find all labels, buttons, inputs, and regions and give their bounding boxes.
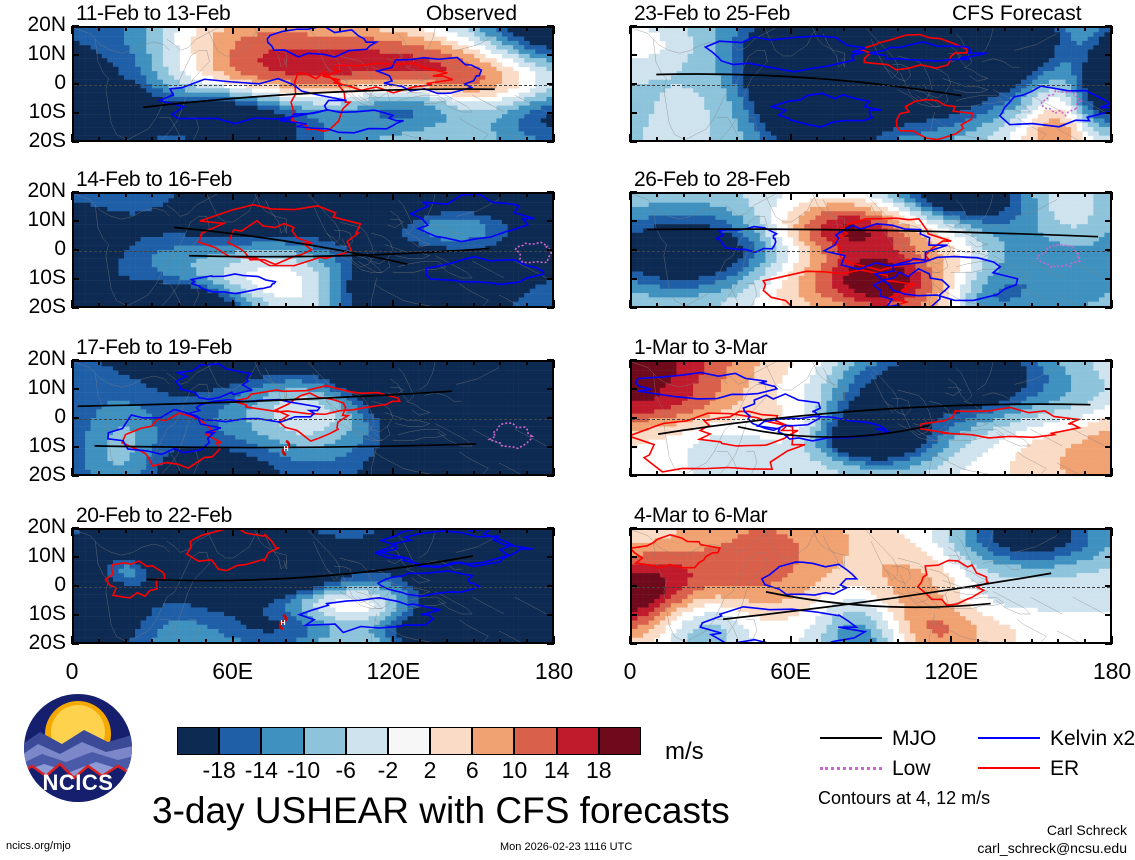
x-tick bbox=[258, 26, 260, 31]
x-tick bbox=[1111, 192, 1113, 200]
x-tick bbox=[1057, 639, 1059, 644]
x-tick bbox=[446, 471, 448, 476]
x-tick bbox=[526, 137, 528, 142]
panel-title: 1-Mar to 3-Mar bbox=[634, 336, 767, 360]
x-tick bbox=[977, 528, 979, 533]
x-tick bbox=[763, 26, 765, 31]
x-tick bbox=[897, 137, 899, 142]
x-tick bbox=[312, 303, 314, 308]
x-tick bbox=[763, 303, 765, 308]
x-tick bbox=[392, 300, 394, 308]
y-tick bbox=[630, 278, 637, 280]
x-tick bbox=[1084, 360, 1086, 365]
x-tick bbox=[736, 639, 738, 644]
x-tick bbox=[151, 471, 153, 476]
x-tick bbox=[870, 303, 872, 308]
x-tick bbox=[950, 300, 952, 308]
y-tick bbox=[1105, 278, 1112, 280]
x-tick bbox=[151, 192, 153, 197]
x-tick bbox=[977, 639, 979, 644]
x-tick bbox=[258, 360, 260, 365]
x-tick bbox=[1031, 303, 1033, 308]
colorbar-segment bbox=[430, 727, 472, 755]
panel-title: 11-Feb to 13-Feb bbox=[76, 2, 230, 26]
x-tick bbox=[977, 26, 979, 31]
x-tick bbox=[71, 360, 73, 368]
equator-line bbox=[632, 85, 1110, 86]
equator-line bbox=[632, 587, 1110, 588]
panel-title: 23-Feb to 25-Feb bbox=[634, 2, 790, 26]
colorbar-segment bbox=[304, 727, 346, 755]
equator-line bbox=[632, 251, 1110, 252]
y-tick bbox=[72, 446, 79, 448]
colorbar-unit-label: m/s bbox=[665, 738, 704, 766]
x-tick bbox=[709, 137, 711, 142]
colorbar-segment bbox=[261, 727, 303, 755]
y-tick bbox=[1105, 83, 1112, 85]
x-tick bbox=[366, 471, 368, 476]
x-tick bbox=[125, 192, 127, 197]
x-tick bbox=[392, 26, 394, 34]
x-tick bbox=[709, 528, 711, 533]
y-axis-label: 20N bbox=[2, 179, 66, 203]
x-tick bbox=[205, 303, 207, 308]
contour-note: Contours at 4, 12 m/s bbox=[818, 788, 990, 809]
x-tick bbox=[870, 471, 872, 476]
y-tick bbox=[1105, 54, 1112, 56]
y-tick bbox=[72, 25, 79, 27]
x-tick bbox=[392, 134, 394, 142]
x-tick bbox=[1084, 471, 1086, 476]
x-tick bbox=[258, 639, 260, 644]
y-tick bbox=[547, 585, 554, 587]
y-axis-label: 20S bbox=[2, 129, 66, 153]
x-tick bbox=[125, 528, 127, 533]
x-tick bbox=[1057, 528, 1059, 533]
x-tick bbox=[950, 192, 952, 200]
x-tick bbox=[312, 137, 314, 142]
y-tick bbox=[630, 417, 637, 419]
x-tick bbox=[446, 360, 448, 365]
x-tick bbox=[339, 137, 341, 142]
x-tick bbox=[924, 471, 926, 476]
legend-label-er: ER bbox=[1050, 757, 1079, 781]
x-tick bbox=[1031, 639, 1033, 644]
x-tick bbox=[98, 528, 100, 533]
x-tick bbox=[709, 26, 711, 31]
x-tick bbox=[339, 471, 341, 476]
x-tick bbox=[924, 528, 926, 533]
x-tick bbox=[656, 360, 658, 365]
x-tick bbox=[392, 360, 394, 368]
plot-area-fcst-1 bbox=[630, 26, 1112, 142]
x-tick bbox=[285, 471, 287, 476]
ncics-logo-graphic: NCICS bbox=[22, 692, 134, 804]
legend-label-low: Low bbox=[892, 757, 931, 781]
x-tick bbox=[205, 528, 207, 533]
x-tick bbox=[98, 137, 100, 142]
x-tick bbox=[709, 639, 711, 644]
x-tick bbox=[125, 303, 127, 308]
x-tick bbox=[312, 528, 314, 533]
x-tick bbox=[205, 137, 207, 142]
x-tick bbox=[553, 360, 555, 368]
x-tick bbox=[178, 26, 180, 31]
x-tick bbox=[1057, 137, 1059, 142]
x-tick bbox=[709, 471, 711, 476]
x-tick bbox=[553, 192, 555, 200]
y-tick bbox=[630, 643, 637, 645]
y-tick bbox=[72, 359, 79, 361]
x-tick bbox=[950, 26, 952, 34]
x-tick bbox=[629, 360, 631, 368]
colorbar-segment bbox=[557, 727, 599, 755]
x-tick bbox=[950, 636, 952, 644]
x-tick bbox=[125, 360, 127, 365]
y-tick bbox=[1105, 446, 1112, 448]
x-tick bbox=[312, 639, 314, 644]
y-tick bbox=[630, 141, 637, 143]
x-tick bbox=[473, 303, 475, 308]
tropical-cyclone-symbol: H bbox=[279, 440, 293, 456]
x-tick bbox=[98, 26, 100, 31]
y-tick bbox=[547, 614, 554, 616]
x-tick bbox=[683, 303, 685, 308]
y-axis-label: 10N bbox=[2, 42, 66, 66]
x-tick bbox=[125, 639, 127, 644]
x-tick bbox=[473, 471, 475, 476]
x-tick bbox=[1004, 137, 1006, 142]
x-tick bbox=[843, 360, 845, 365]
x-tick bbox=[366, 26, 368, 31]
x-tick bbox=[339, 192, 341, 197]
x-tick bbox=[1004, 26, 1006, 31]
x-tick bbox=[419, 192, 421, 197]
y-tick bbox=[72, 527, 79, 529]
x-tick bbox=[258, 192, 260, 197]
x-tick bbox=[709, 360, 711, 365]
x-tick bbox=[790, 300, 792, 308]
legend-line-mjo bbox=[820, 737, 882, 739]
x-tick bbox=[683, 528, 685, 533]
y-tick bbox=[1105, 614, 1112, 616]
x-tick bbox=[232, 360, 234, 368]
x-tick bbox=[1004, 360, 1006, 365]
x-tick bbox=[736, 26, 738, 31]
y-tick bbox=[547, 83, 554, 85]
y-tick bbox=[630, 25, 637, 27]
x-tick bbox=[499, 303, 501, 308]
x-tick bbox=[285, 26, 287, 31]
x-tick bbox=[366, 360, 368, 365]
author-name: Carl Schreck bbox=[1047, 822, 1127, 838]
y-axis-label: 20S bbox=[2, 631, 66, 655]
y-tick bbox=[547, 112, 554, 114]
x-tick bbox=[1057, 26, 1059, 31]
y-tick bbox=[630, 112, 637, 114]
shading-layer bbox=[74, 530, 552, 642]
x-tick bbox=[71, 300, 73, 308]
x-tick bbox=[843, 137, 845, 142]
plot-area-obs-1 bbox=[72, 26, 554, 142]
x-tick bbox=[446, 528, 448, 533]
y-tick bbox=[72, 417, 79, 419]
x-tick bbox=[178, 192, 180, 197]
x-tick bbox=[366, 639, 368, 644]
x-axis-label: 0 bbox=[32, 658, 112, 685]
x-tick bbox=[1111, 26, 1113, 34]
x-tick bbox=[790, 360, 792, 368]
x-tick bbox=[151, 26, 153, 31]
plot-area-obs-2 bbox=[72, 192, 554, 308]
y-tick bbox=[547, 278, 554, 280]
plot-area-fcst-2 bbox=[630, 192, 1112, 308]
x-tick bbox=[205, 471, 207, 476]
x-tick bbox=[553, 468, 555, 476]
x-tick bbox=[392, 528, 394, 536]
y-axis-label: 10N bbox=[2, 376, 66, 400]
x-tick bbox=[473, 528, 475, 533]
x-tick bbox=[98, 639, 100, 644]
y-tick bbox=[630, 83, 637, 85]
x-tick bbox=[736, 528, 738, 533]
y-tick bbox=[547, 220, 554, 222]
y-tick bbox=[72, 249, 79, 251]
x-tick bbox=[232, 636, 234, 644]
x-tick bbox=[1111, 360, 1113, 368]
x-tick bbox=[1057, 192, 1059, 197]
y-tick bbox=[547, 54, 554, 56]
x-tick bbox=[629, 134, 631, 142]
y-tick bbox=[1105, 249, 1112, 251]
x-tick bbox=[205, 360, 207, 365]
y-tick bbox=[630, 585, 637, 587]
author-email[interactable]: carl_schreck@ncsu.edu bbox=[977, 840, 1127, 856]
y-tick bbox=[630, 475, 637, 477]
x-tick bbox=[683, 471, 685, 476]
x-tick bbox=[98, 303, 100, 308]
x-tick bbox=[71, 636, 73, 644]
x-tick bbox=[1031, 528, 1033, 533]
x-tick bbox=[446, 192, 448, 197]
x-tick bbox=[1031, 471, 1033, 476]
x-tick bbox=[1031, 26, 1033, 31]
x-tick bbox=[763, 528, 765, 533]
x-tick bbox=[178, 471, 180, 476]
x-tick bbox=[419, 528, 421, 533]
x-tick bbox=[232, 468, 234, 476]
site-link[interactable]: ncics.org/mjo bbox=[6, 840, 71, 852]
x-tick bbox=[870, 192, 872, 197]
x-tick bbox=[709, 303, 711, 308]
x-tick bbox=[1084, 303, 1086, 308]
legend-line-low bbox=[820, 767, 882, 770]
x-tick bbox=[71, 468, 73, 476]
legend-label-mjo: MJO bbox=[892, 727, 936, 751]
x-tick bbox=[526, 26, 528, 31]
x-tick bbox=[1111, 636, 1113, 644]
panel-title: 20-Feb to 22-Feb bbox=[76, 504, 232, 528]
x-tick bbox=[178, 528, 180, 533]
x-tick bbox=[312, 471, 314, 476]
plot-area-obs-3: H bbox=[72, 360, 554, 476]
y-tick bbox=[547, 388, 554, 390]
y-tick bbox=[630, 307, 637, 309]
y-tick bbox=[1105, 585, 1112, 587]
x-tick bbox=[178, 639, 180, 644]
x-tick bbox=[526, 303, 528, 308]
x-tick bbox=[790, 192, 792, 200]
x-tick bbox=[897, 303, 899, 308]
equator-line bbox=[632, 419, 1110, 420]
x-tick bbox=[816, 528, 818, 533]
plot-area-obs-4: H bbox=[72, 528, 554, 644]
legend-label-kelvin-x2: Kelvin x2 bbox=[1050, 727, 1135, 751]
y-tick bbox=[72, 614, 79, 616]
panel-title: 26-Feb to 28-Feb bbox=[634, 168, 790, 192]
y-tick bbox=[72, 585, 79, 587]
x-tick bbox=[656, 528, 658, 533]
x-tick bbox=[656, 303, 658, 308]
x-tick bbox=[816, 26, 818, 31]
x-tick bbox=[151, 360, 153, 365]
y-axis-label: 20N bbox=[2, 347, 66, 371]
y-tick bbox=[72, 112, 79, 114]
x-tick bbox=[870, 639, 872, 644]
x-tick bbox=[843, 192, 845, 197]
x-tick bbox=[1057, 360, 1059, 365]
x-tick bbox=[312, 26, 314, 31]
x-tick bbox=[656, 26, 658, 31]
x-tick bbox=[98, 360, 100, 365]
x-tick bbox=[446, 137, 448, 142]
main-title: 3-day USHEAR with CFS forecasts bbox=[152, 790, 730, 832]
x-tick bbox=[977, 192, 979, 197]
x-tick bbox=[125, 471, 127, 476]
colorbar-segment bbox=[346, 727, 388, 755]
x-tick bbox=[366, 528, 368, 533]
x-tick bbox=[816, 360, 818, 365]
x-tick bbox=[843, 528, 845, 533]
y-tick bbox=[72, 278, 79, 280]
x-tick bbox=[526, 192, 528, 197]
x-tick bbox=[1084, 528, 1086, 533]
y-axis-label: 10N bbox=[2, 544, 66, 568]
x-tick bbox=[526, 360, 528, 365]
y-tick bbox=[72, 475, 79, 477]
x-tick bbox=[870, 360, 872, 365]
x-tick bbox=[763, 639, 765, 644]
x-tick bbox=[473, 26, 475, 31]
y-axis-label: 0 bbox=[2, 237, 66, 261]
x-tick bbox=[1004, 192, 1006, 197]
y-tick bbox=[630, 446, 637, 448]
x-tick bbox=[473, 360, 475, 365]
x-tick bbox=[843, 26, 845, 31]
y-tick bbox=[1105, 220, 1112, 222]
x-tick bbox=[125, 137, 127, 142]
x-tick bbox=[205, 192, 207, 197]
x-tick bbox=[924, 137, 926, 142]
timestamp: Mon 2026-02-23 1116 UTC bbox=[500, 841, 632, 853]
x-tick bbox=[526, 639, 528, 644]
x-tick bbox=[339, 528, 341, 533]
x-tick bbox=[285, 528, 287, 533]
shading-layer bbox=[632, 194, 1110, 306]
x-tick bbox=[897, 192, 899, 197]
x-tick bbox=[98, 192, 100, 197]
x-tick bbox=[736, 303, 738, 308]
x-tick bbox=[816, 303, 818, 308]
plot-area-fcst-3 bbox=[630, 360, 1112, 476]
x-tick bbox=[790, 636, 792, 644]
x-tick bbox=[419, 471, 421, 476]
x-tick bbox=[446, 639, 448, 644]
x-tick bbox=[977, 303, 979, 308]
colorbar-segment bbox=[599, 727, 641, 755]
x-tick bbox=[870, 528, 872, 533]
x-tick bbox=[526, 528, 528, 533]
x-tick bbox=[258, 137, 260, 142]
x-tick bbox=[419, 639, 421, 644]
x-tick bbox=[816, 192, 818, 197]
x-tick bbox=[1084, 192, 1086, 197]
x-tick bbox=[473, 192, 475, 197]
x-tick bbox=[1031, 360, 1033, 365]
y-axis-label: 20N bbox=[2, 13, 66, 37]
x-tick bbox=[709, 192, 711, 197]
x-axis-label: 180 bbox=[514, 658, 594, 685]
y-tick bbox=[630, 191, 637, 193]
y-tick bbox=[547, 417, 554, 419]
y-tick bbox=[630, 359, 637, 361]
x-axis-label: 60E bbox=[193, 658, 273, 685]
x-tick bbox=[125, 26, 127, 31]
x-tick bbox=[553, 134, 555, 142]
x-tick bbox=[790, 468, 792, 476]
column-header-right: CFS Forecast bbox=[952, 2, 1082, 26]
x-tick bbox=[151, 639, 153, 644]
y-tick bbox=[1105, 388, 1112, 390]
x-tick bbox=[1004, 639, 1006, 644]
x-tick bbox=[656, 471, 658, 476]
x-tick bbox=[285, 303, 287, 308]
x-tick bbox=[499, 137, 501, 142]
y-axis-label: 10N bbox=[2, 208, 66, 232]
y-axis-label: 20S bbox=[2, 463, 66, 487]
x-tick bbox=[98, 471, 100, 476]
x-tick bbox=[339, 639, 341, 644]
x-tick bbox=[285, 137, 287, 142]
y-axis-label: 10S bbox=[2, 266, 66, 290]
y-axis-label: 20N bbox=[2, 515, 66, 539]
x-tick bbox=[950, 134, 952, 142]
x-tick bbox=[499, 471, 501, 476]
x-tick bbox=[285, 360, 287, 365]
x-tick bbox=[419, 137, 421, 142]
x-tick bbox=[1031, 137, 1033, 142]
y-tick bbox=[72, 556, 79, 558]
x-tick bbox=[763, 137, 765, 142]
x-tick bbox=[897, 26, 899, 31]
y-axis-label: 10S bbox=[2, 602, 66, 626]
x-tick bbox=[339, 26, 341, 31]
x-axis-label: 120E bbox=[353, 658, 433, 685]
x-tick bbox=[977, 137, 979, 142]
y-tick bbox=[72, 307, 79, 309]
x-tick bbox=[1111, 528, 1113, 536]
colorbar-segment bbox=[388, 727, 430, 755]
